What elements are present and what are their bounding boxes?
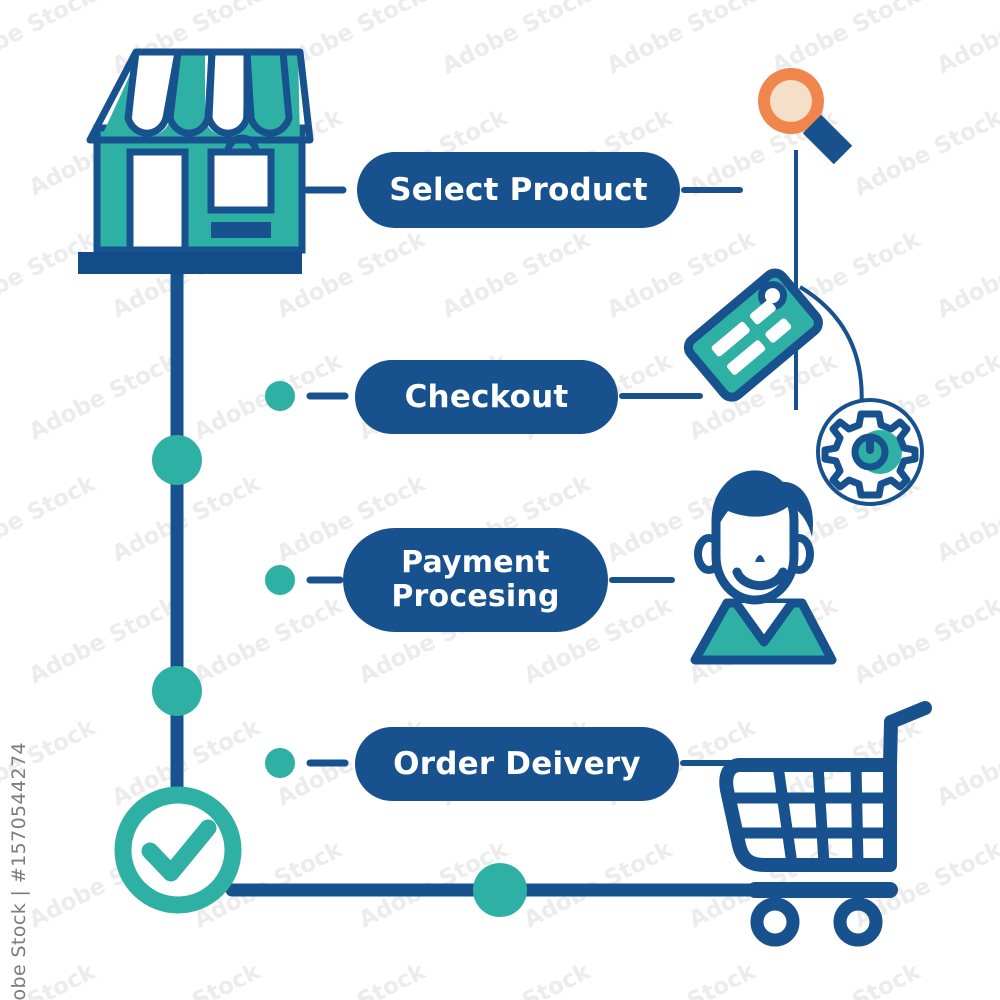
lead-dot-delivery	[265, 748, 295, 778]
step-pill-order-delivery[interactable]: Order Deivery	[355, 727, 679, 801]
step-pill-payment-processing[interactable]: Payment Procesing	[343, 528, 608, 632]
step-label-checkout: Checkout	[405, 380, 569, 415]
step-pill-checkout[interactable]: Checkout	[355, 360, 618, 434]
lead-dot-checkout	[265, 381, 295, 411]
node-dot-payment	[152, 666, 202, 716]
artwork-layer	[0, 0, 1000, 1000]
node-dot-bottom	[473, 863, 527, 917]
lead-dot-payment	[265, 565, 295, 595]
storefront-icon	[78, 52, 310, 274]
gear-icon	[818, 400, 922, 504]
connector-dashes-right	[612, 190, 742, 763]
step-label-order-delivery: Order Deivery	[393, 747, 641, 782]
magnifier-icon	[758, 68, 843, 155]
node-dot-checkout	[152, 435, 202, 485]
infographic-canvas: Adobe StockAdobe StockAdobe StockAdobe S…	[0, 0, 1000, 1000]
lead-dots	[265, 381, 295, 778]
step-label-payment-processing: Payment Procesing	[391, 546, 559, 613]
step-pill-select-product[interactable]: Select Product	[357, 152, 680, 228]
stock-watermark-id: Adobe Stock | #1570544274	[8, 742, 30, 1000]
step-label-select-product: Select Product	[389, 173, 648, 208]
person-avatar-icon	[695, 474, 832, 660]
check-circle-icon	[123, 795, 233, 905]
connector-dashes	[307, 190, 345, 763]
shopping-cart-icon	[726, 708, 925, 940]
